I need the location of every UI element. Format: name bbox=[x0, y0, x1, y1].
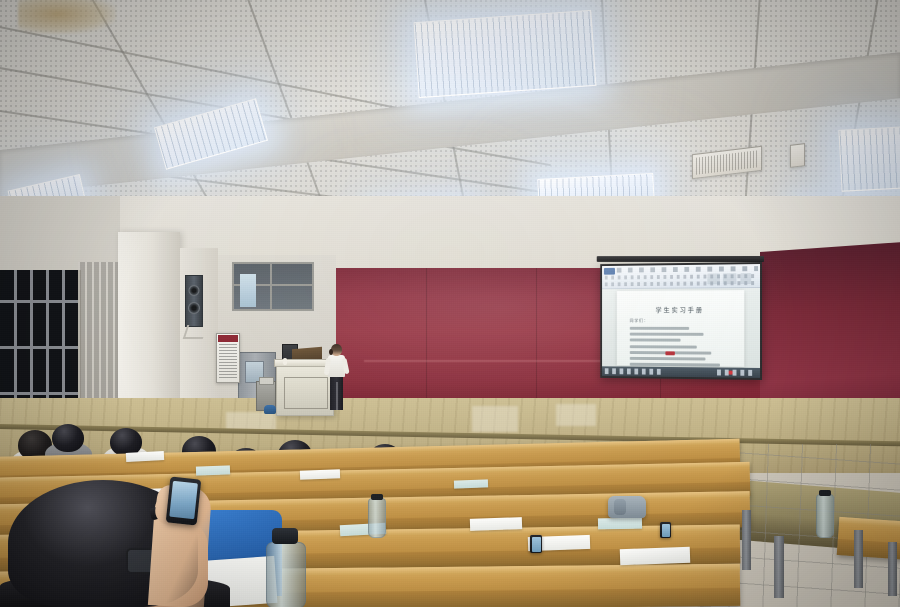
document-text-line bbox=[630, 327, 689, 330]
student-head bbox=[52, 424, 84, 452]
word-ribbon[interactable] bbox=[602, 264, 760, 289]
word-ribbon-group-c[interactable] bbox=[740, 273, 751, 284]
paper-sheet bbox=[470, 517, 522, 531]
word-tab-row[interactable] bbox=[617, 266, 758, 273]
document-subtitle: 同学们： bbox=[630, 318, 649, 324]
document-red-highlight bbox=[665, 351, 674, 355]
projection-screen[interactable]: 学生实习手册 同学们： bbox=[600, 262, 762, 380]
podium-front-panel bbox=[284, 377, 328, 409]
podium-microphone bbox=[283, 358, 287, 365]
notice-board-text bbox=[219, 344, 237, 379]
desk-leg bbox=[774, 536, 784, 598]
paper-sheet bbox=[300, 469, 340, 479]
phone-screen bbox=[662, 524, 670, 537]
water-bottle bbox=[368, 498, 386, 538]
floor-bag bbox=[264, 405, 276, 414]
taskbar-right-icons[interactable] bbox=[717, 370, 756, 376]
word-ribbon-group-a[interactable] bbox=[707, 273, 720, 284]
document-text-line bbox=[630, 339, 681, 342]
smartphone-screen[interactable] bbox=[169, 481, 198, 519]
wall-speaker bbox=[185, 275, 203, 327]
desk-leg bbox=[854, 530, 863, 588]
windows-taskbar[interactable] bbox=[602, 366, 760, 378]
document-text-line bbox=[630, 345, 697, 348]
paper-sheet bbox=[598, 518, 642, 530]
paper-sheet bbox=[196, 465, 230, 475]
notice-board bbox=[216, 333, 240, 383]
smartphone[interactable] bbox=[166, 477, 202, 526]
screen-roller-housing bbox=[597, 256, 764, 262]
foreground-water-bottle bbox=[266, 542, 306, 607]
phone-screen bbox=[532, 537, 541, 552]
water-bottle-cap bbox=[272, 528, 298, 544]
projected-image: 学生实习手册 同学们： bbox=[602, 264, 760, 378]
taskbar-left-icons[interactable] bbox=[605, 368, 663, 375]
document-title: 学生实习手册 bbox=[617, 304, 744, 314]
word-document-page[interactable]: 学生实习手册 同学们： bbox=[617, 290, 744, 367]
document-text-line bbox=[630, 357, 706, 361]
word-file-tab[interactable] bbox=[604, 268, 615, 275]
lecturer-hair bbox=[329, 349, 333, 355]
ceiling-water-stain bbox=[18, 0, 116, 34]
bottle-cap bbox=[819, 490, 831, 496]
word-ribbon-group-b[interactable] bbox=[723, 273, 737, 284]
notice-board-header bbox=[218, 335, 238, 342]
lecture-hall-photo: 学生实习手册 同学们： bbox=[0, 0, 900, 607]
paper-sheet bbox=[620, 547, 691, 565]
taskbar-notification-badge[interactable] bbox=[729, 371, 733, 375]
bottle-cap bbox=[371, 494, 383, 500]
stage-floor-patch bbox=[556, 404, 596, 426]
light-panel-3 bbox=[414, 10, 597, 98]
phone-on-desk bbox=[530, 535, 542, 553]
lecturer-legs bbox=[330, 376, 343, 410]
phone-on-desk bbox=[660, 522, 671, 538]
desk-leg bbox=[742, 510, 751, 570]
paper-sheet bbox=[454, 479, 488, 488]
desk-leg bbox=[888, 542, 897, 596]
backpack bbox=[608, 496, 646, 518]
light-panel-8 bbox=[838, 126, 900, 191]
water-bottle bbox=[816, 494, 834, 538]
document-text-line bbox=[630, 333, 704, 336]
ac-vent-slim bbox=[790, 143, 805, 168]
transom-window bbox=[232, 262, 314, 311]
